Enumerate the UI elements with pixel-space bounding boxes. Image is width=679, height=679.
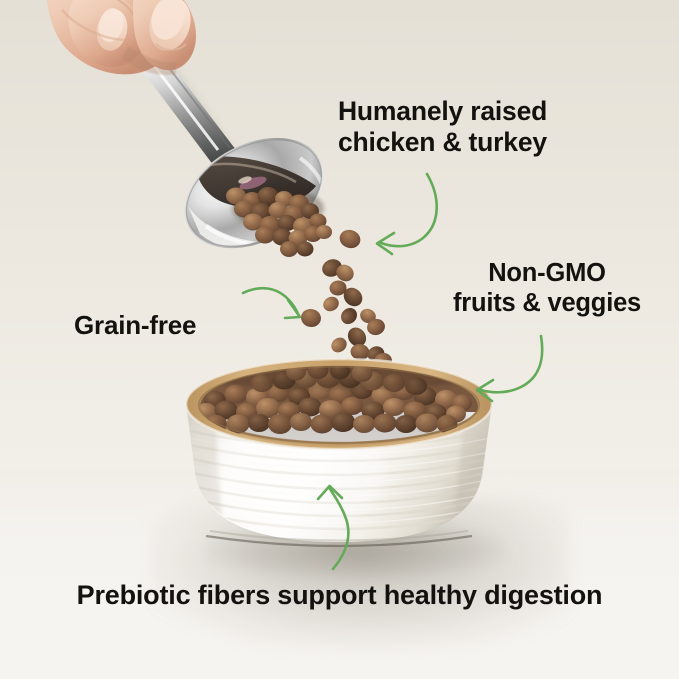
arrow-humanely-raised	[377, 174, 437, 254]
hand	[46, 0, 196, 75]
kibble-in-bowl	[189, 354, 489, 444]
callout-humanely-raised: Humanely raised chicken & turkey	[338, 96, 588, 159]
bowl-contact-shadow	[205, 520, 505, 580]
spoon-handle	[100, 1, 252, 192]
callout-prebiotic-fibers: Prebiotic fibers support healthy digesti…	[0, 580, 679, 612]
hand-with-spoon	[46, 0, 342, 270]
arrow-non-gmo	[477, 336, 542, 401]
callout-non-gmo: Non-GMO fruits & veggies	[432, 258, 662, 318]
product-infographic-scene: Humanely raised chicken & turkey Non-GMO…	[0, 0, 679, 679]
kibble-on-spoon	[226, 187, 332, 257]
callout-grain-free: Grain-free	[74, 310, 274, 341]
bowl-gold-rim	[186, 359, 492, 449]
falling-kibble	[299, 227, 393, 394]
bowl-interior	[199, 367, 479, 443]
spoon-bowl	[166, 116, 342, 271]
